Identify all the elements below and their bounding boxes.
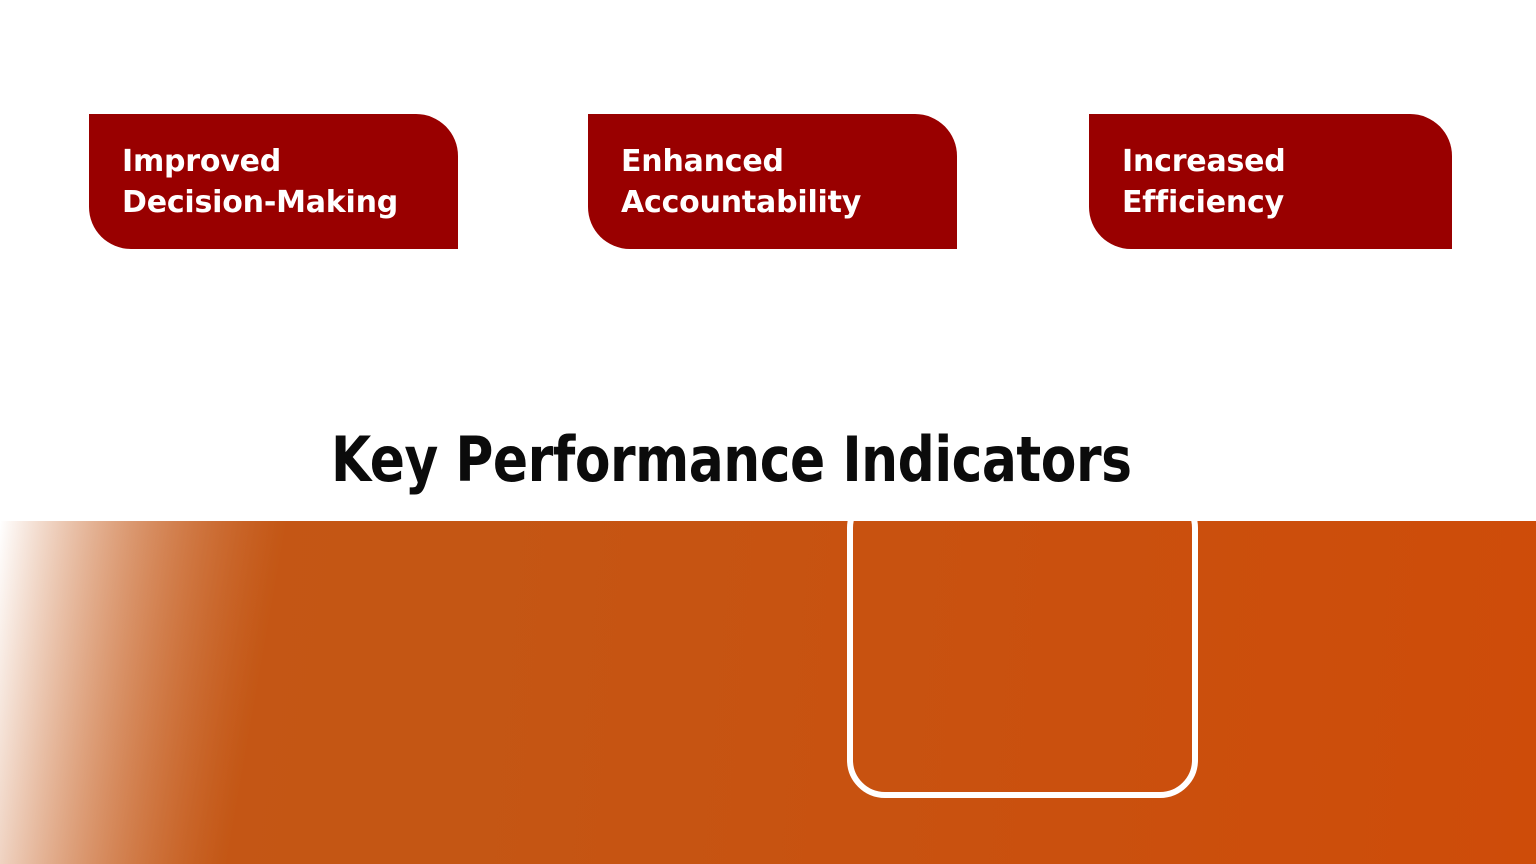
kpi-card-increased-efficiency[interactable]: Increased Efficiency: [1089, 114, 1452, 249]
kpi-card-label-line2: Efficiency: [1122, 182, 1432, 223]
orange-footer-band: [0, 521, 1536, 864]
kpi-card-label-line2: Accountability: [621, 182, 937, 223]
kpi-card-row: Improved Decision-Making Enhanced Accoun…: [0, 0, 1536, 300]
page-title: Key Performance Indicators: [331, 424, 1168, 496]
band-gradient-fill: [0, 521, 1536, 864]
slide-canvas: Improved Decision-Making Enhanced Accoun…: [0, 0, 1536, 864]
kpi-card-label-line1: Improved: [122, 141, 438, 182]
kpi-card-enhanced-accountability[interactable]: Enhanced Accountability: [588, 114, 957, 249]
kpi-card-label-line1: Enhanced: [621, 141, 937, 182]
kpi-card-label-line1: Increased: [1122, 141, 1432, 182]
kpi-card-improved-decision-making[interactable]: Improved Decision-Making: [89, 114, 458, 249]
kpi-card-label-line2: Decision-Making: [122, 182, 438, 223]
